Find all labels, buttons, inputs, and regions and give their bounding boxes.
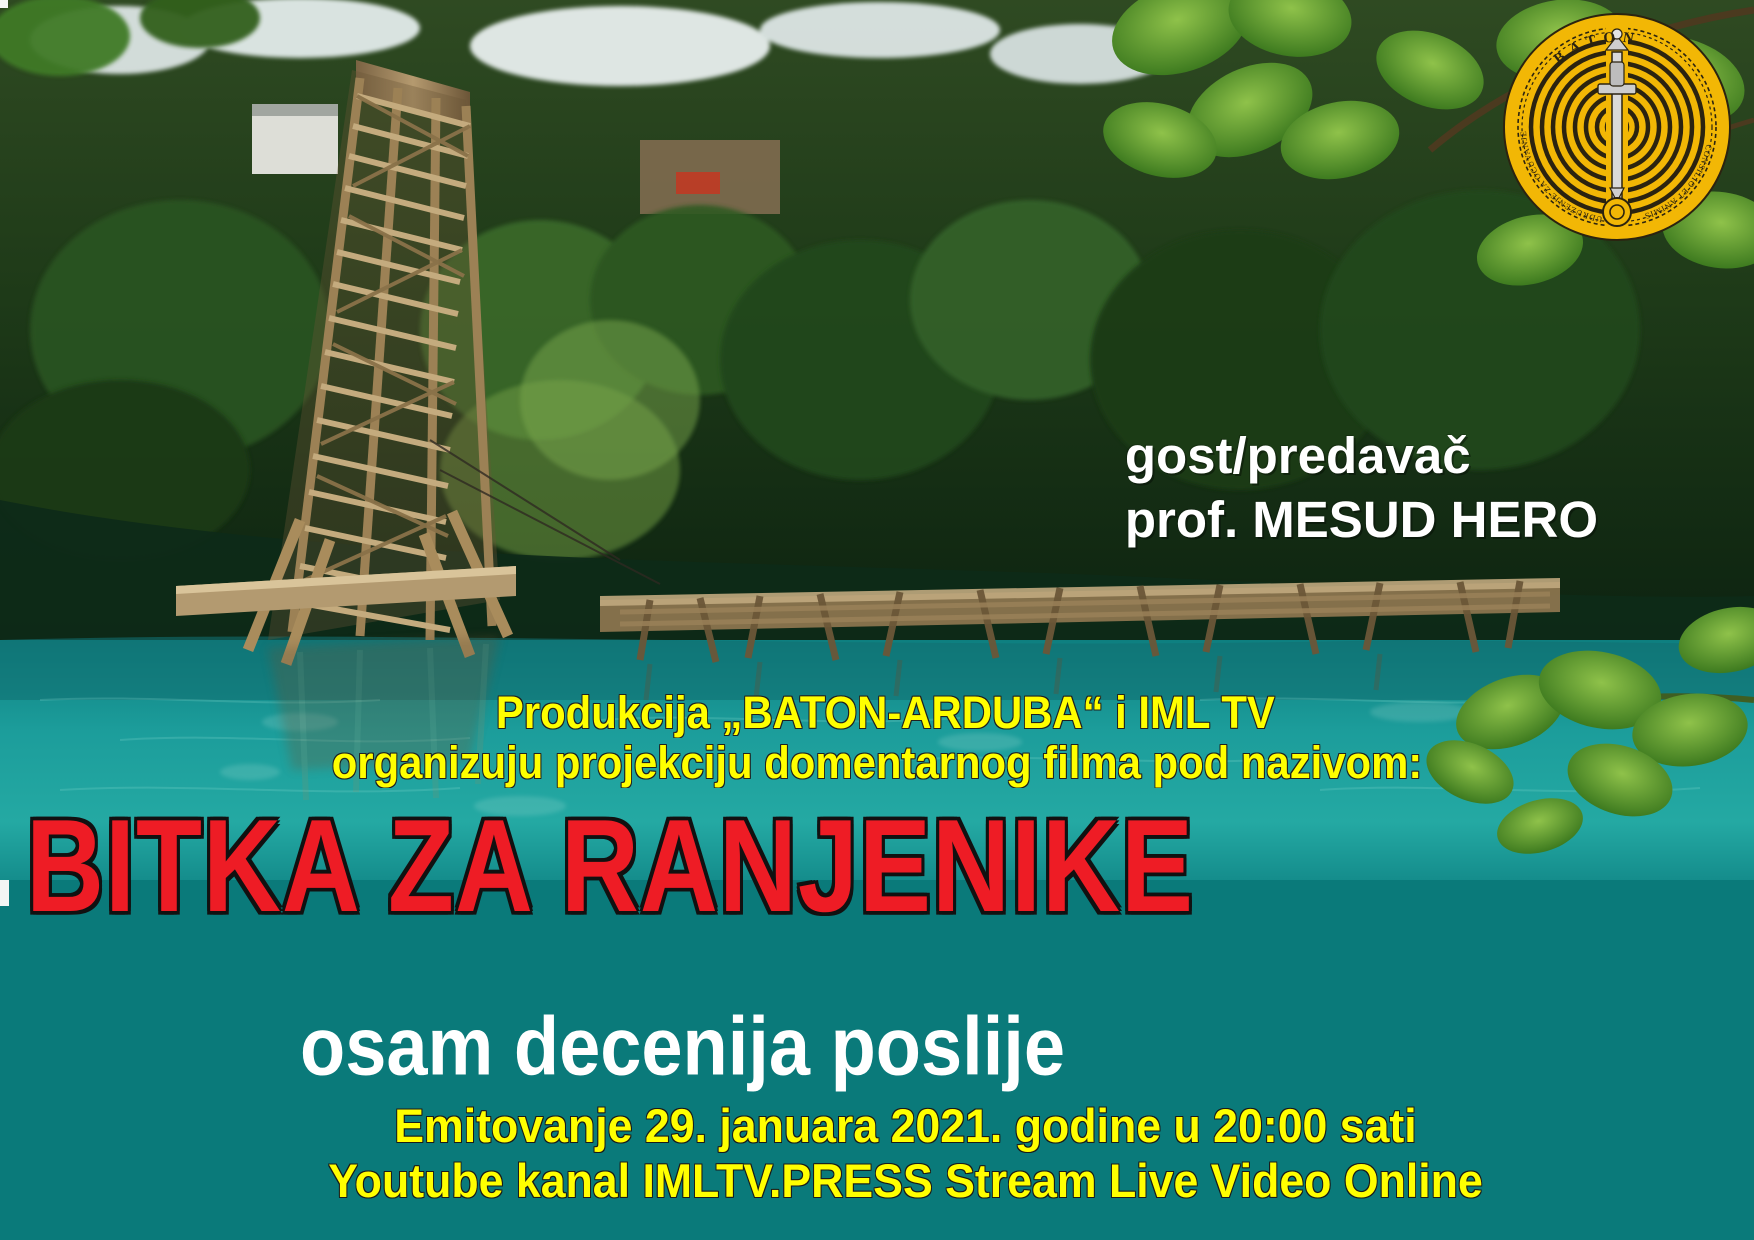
production-line-2: organizuju projekciju domentarnog filma … [61,738,1692,788]
broadcast-line-2: Youtube kanal IMLTV.PRESS Stream Live Vi… [44,1153,1710,1208]
production-block: Produkcija „BATON-ARDUBA“ i IML TV organ… [0,688,1754,788]
guest-lecturer-block: gost/predavač prof. MESUD HERO [1125,424,1598,552]
band-left-sliver [0,880,9,906]
broadcast-block: Emitovanje 29. januara 2021. godine u 20… [0,1098,1754,1208]
film-subtitle: osam decenija poslije [300,1005,1065,1088]
guest-role-label: gost/predavač [1125,424,1598,488]
top-left-sliver [0,0,8,8]
baton-arduba-emblem: BATON CONSILIO ET ANIMIS UDRUZENJE ZA OC… [1502,12,1732,242]
guest-name-label: prof. MESUD HERO [1125,488,1598,552]
film-title: BITKA ZA RANJENIKE [26,800,1194,932]
poster-root: BATON CONSILIO ET ANIMIS UDRUZENJE ZA OC… [0,0,1754,1240]
production-line-1: Produkcija „BATON-ARDUBA“ i IML TV [61,688,1692,738]
broadcast-line-1: Emitovanje 29. januara 2021. godine u 20… [44,1098,1710,1153]
